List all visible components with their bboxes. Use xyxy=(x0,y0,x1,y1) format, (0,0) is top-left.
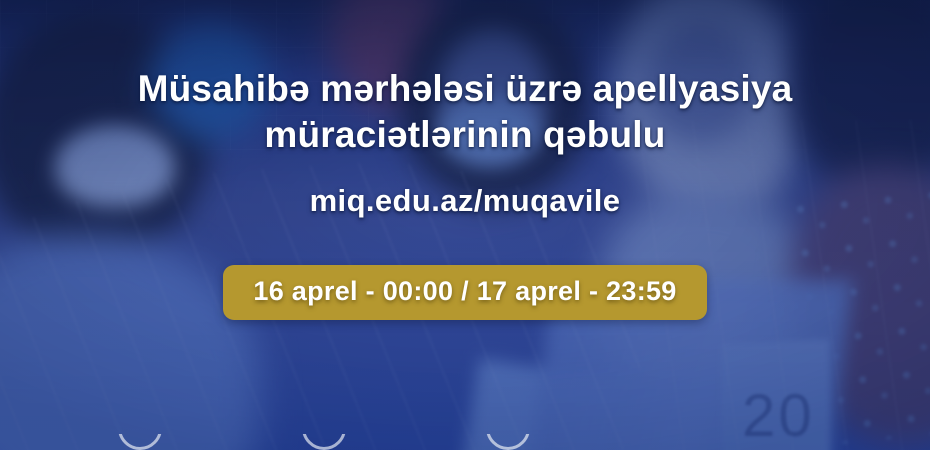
promo-banner: 20 Müsahibə mərhələsi üzrə apellyasiya m… xyxy=(0,0,930,450)
headline-line-2: müraciətlərinin qəbulu xyxy=(0,112,930,158)
banner-headline: Müsahibə mərhələsi üzrə apellyasiya müra… xyxy=(0,66,930,158)
headline-line-1: Müsahibə mərhələsi üzrə apellyasiya xyxy=(0,66,930,112)
banner-url[interactable]: miq.edu.az/muqavile xyxy=(310,183,621,219)
bottom-icon-row xyxy=(0,434,930,450)
circle-icon-2 xyxy=(302,434,346,450)
date-range-badge: 16 aprel - 00:00 / 17 aprel - 23:59 xyxy=(223,265,706,320)
circle-icon-3 xyxy=(486,434,530,450)
circle-icon-1 xyxy=(118,434,162,450)
banner-content: Müsahibə mərhələsi üzrə apellyasiya müra… xyxy=(0,0,930,450)
